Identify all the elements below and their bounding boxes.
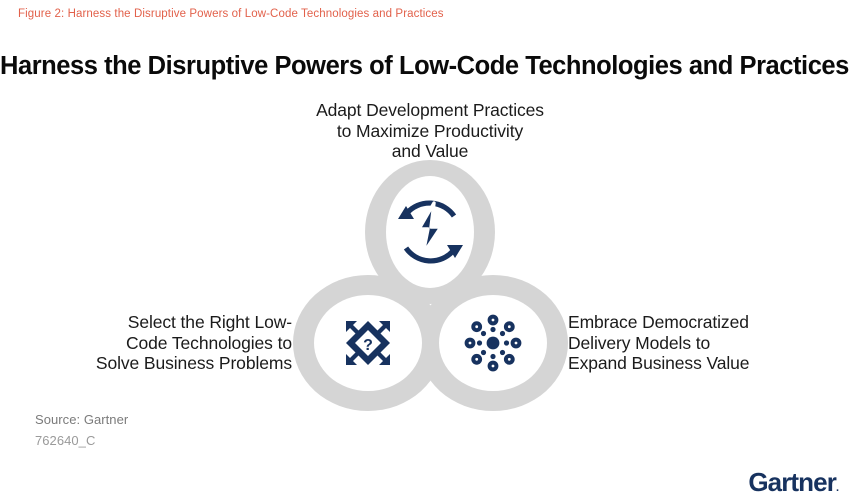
source-attribution: Source: Gartner [35, 412, 128, 427]
document-id: 762640_C [35, 433, 95, 448]
radial-network-dots-icon [467, 317, 520, 370]
trefoil-rings [293, 160, 568, 411]
registered-mark: . [836, 482, 839, 494]
callout-label-bottom-right: Embrace Democratized Delivery Models to … [568, 312, 818, 374]
gartner-logo: Gartner. [748, 469, 839, 495]
callout-top-line-1: Adapt Development Practices [280, 100, 580, 121]
callout-label-top: Adapt Development Practices to Maximize … [280, 100, 580, 162]
callout-right-line-3: Expand Business Value [568, 353, 818, 374]
callout-left-line-1: Select the Right Low- [60, 312, 292, 333]
ring-bottom-left [293, 275, 443, 411]
callout-top-line-2: to Maximize Productivity [280, 121, 580, 142]
ring-bottom-right [418, 275, 568, 411]
callout-label-bottom-left: Select the Right Low- Code Technologies … [60, 312, 292, 374]
page-title: Harness the Disruptive Powers of Low-Cod… [0, 52, 800, 81]
callout-top-line-3: and Value [280, 141, 580, 162]
callout-left-line-3: Solve Business Problems [60, 353, 292, 374]
figure-caption: Figure 2: Harness the Disruptive Powers … [18, 8, 444, 20]
ring-top [365, 160, 495, 304]
svg-text:?: ? [363, 337, 373, 354]
lightning-refresh-cycle-icon [398, 203, 463, 261]
diamond-question-expand-arrows-icon: ? [346, 321, 390, 365]
gartner-logo-text: Gartner [748, 467, 836, 497]
callout-left-line-2: Code Technologies to [60, 333, 292, 354]
callout-right-line-1: Embrace Democratized [568, 312, 818, 333]
slide-canvas: Figure 2: Harness the Disruptive Powers … [0, 0, 865, 503]
callout-right-line-2: Delivery Models to [568, 333, 818, 354]
